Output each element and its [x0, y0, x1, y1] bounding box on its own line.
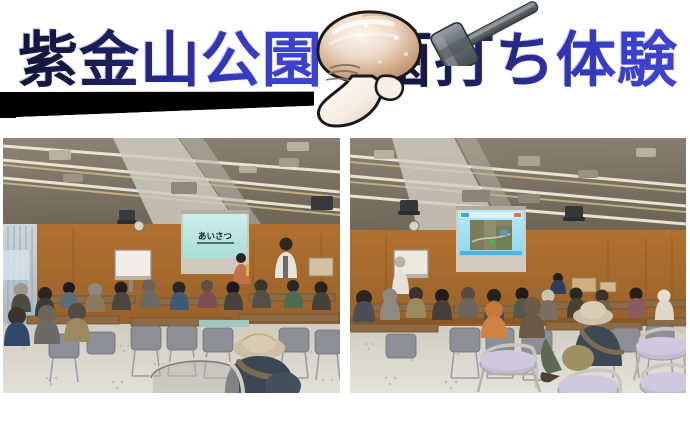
- photo-seminar-room-greeting: あいさつ: [3, 138, 340, 393]
- wooden-mallet-icon: [420, 0, 550, 66]
- svg-text:あいさつ: あいさつ: [198, 232, 232, 242]
- black-ribbon-tail: [0, 104, 16, 118]
- photo-seminar-room-map-slide: [350, 138, 686, 393]
- poster-page: 紫金山公園 菌打ち体験: [0, 0, 690, 427]
- foreground-chair-back: [151, 358, 243, 393]
- shiitake-mushroom-icon: [300, 2, 440, 130]
- title-part-park: 紫金山公園: [18, 26, 323, 96]
- title-header: 紫金山公園 菌打ち体験: [0, 0, 690, 130]
